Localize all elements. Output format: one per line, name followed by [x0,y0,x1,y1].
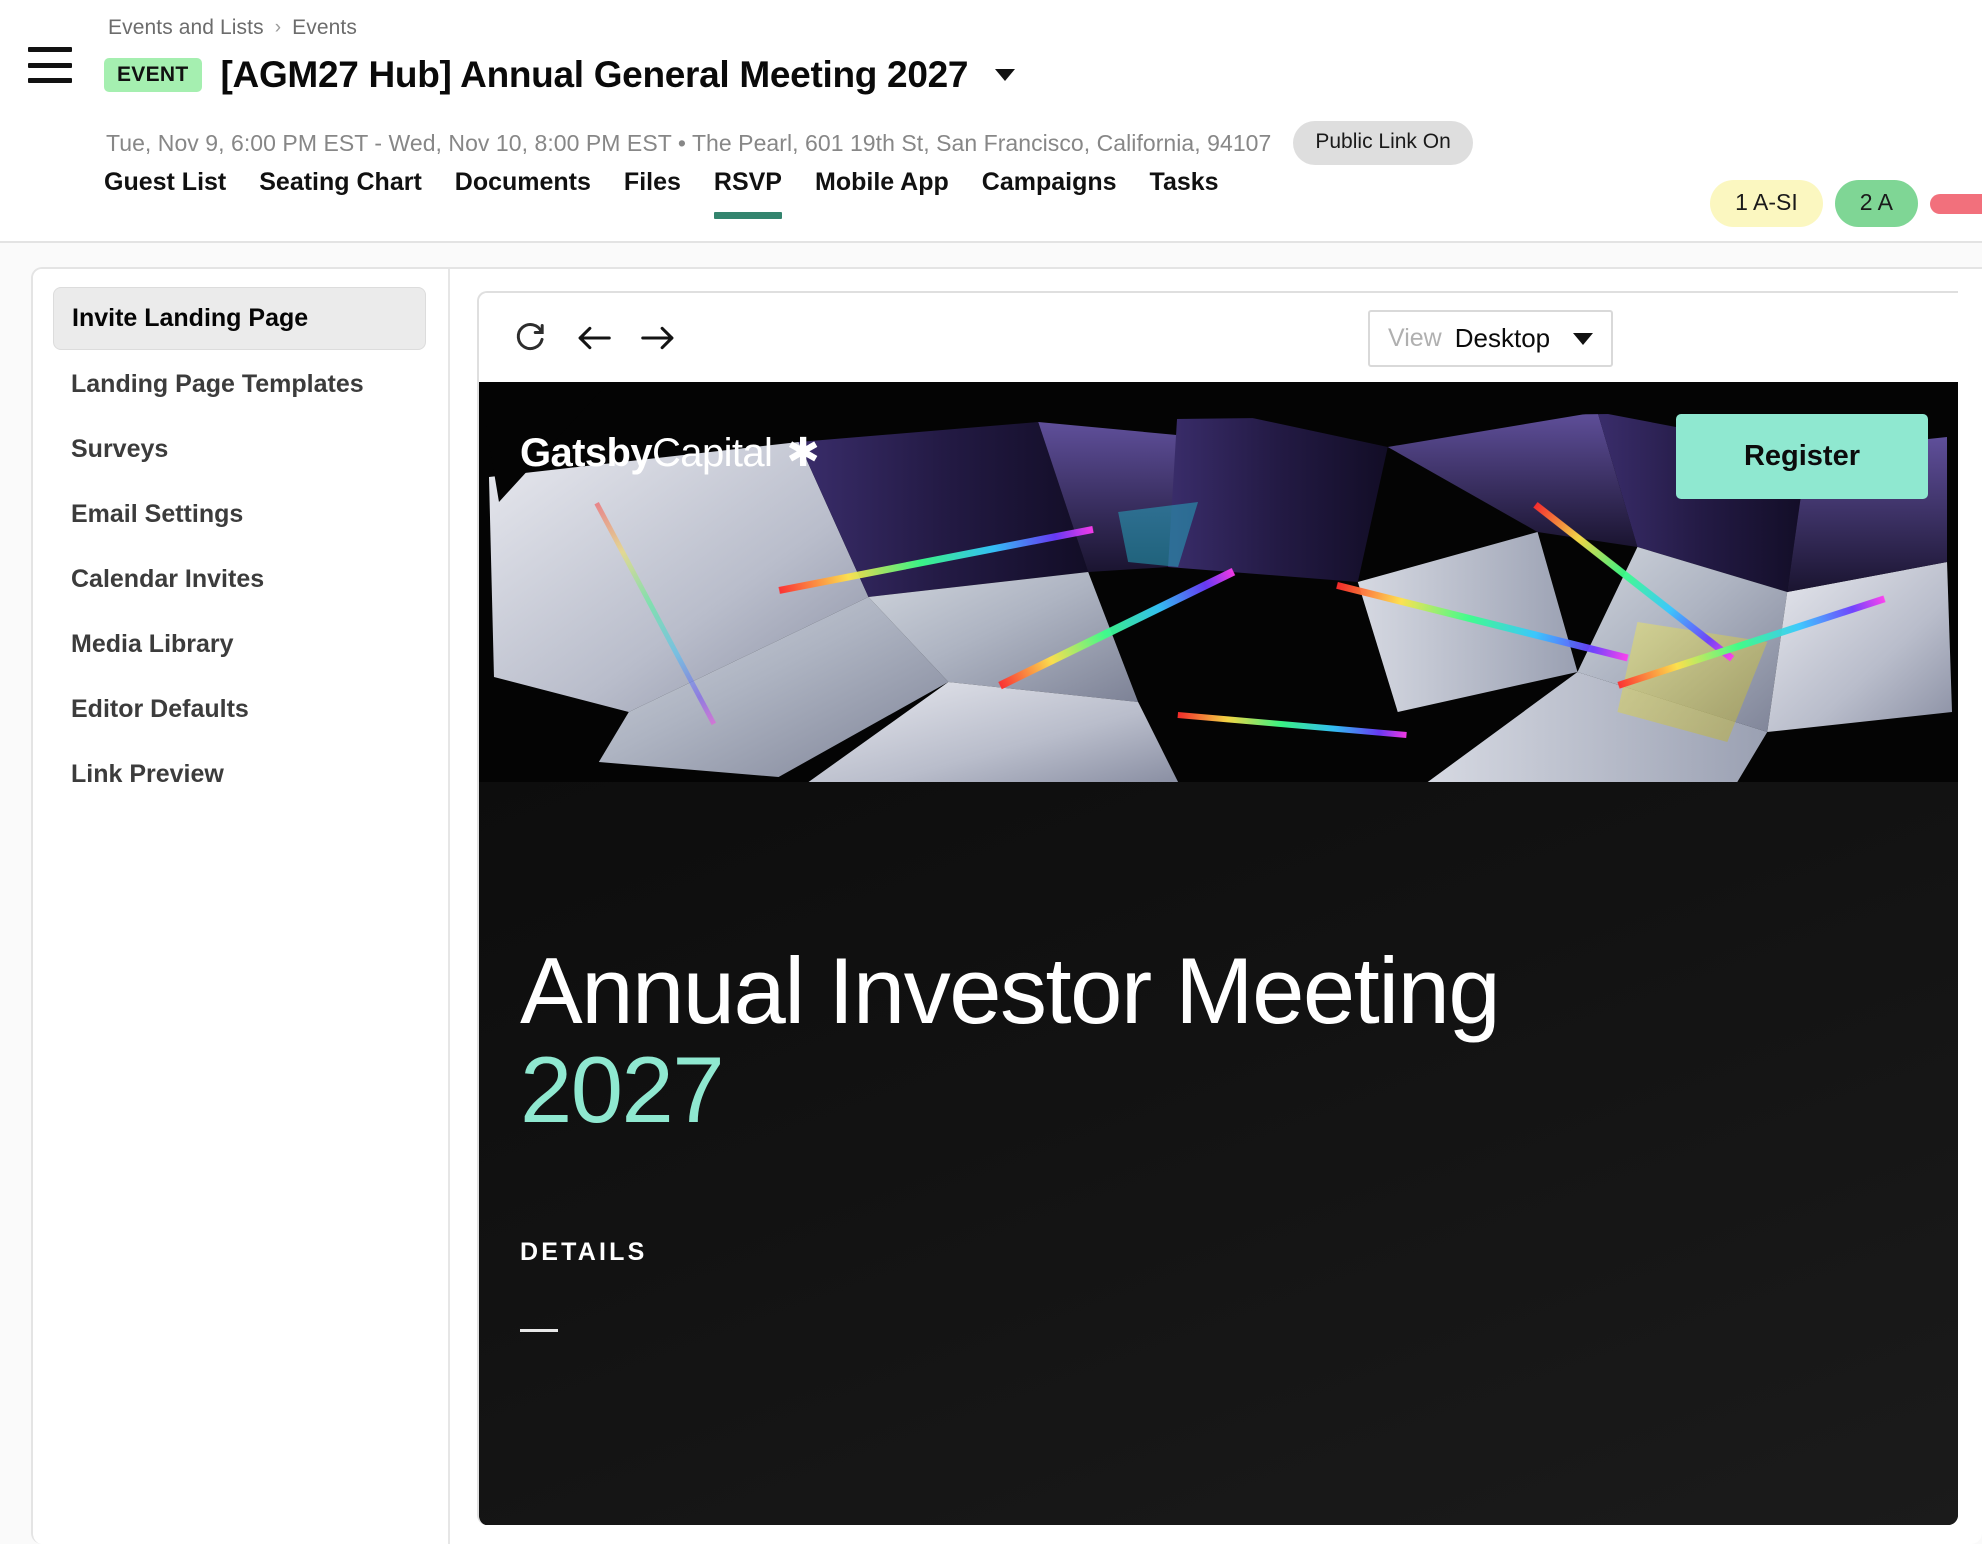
tab-campaigns[interactable]: Campaigns [982,168,1117,219]
preview-region: View Desktop [450,269,1982,1544]
sidebar-item-calendar-invites[interactable]: Calendar Invites [53,549,426,610]
sidebar-item-media-library[interactable]: Media Library [53,614,426,675]
details-divider [520,1329,558,1332]
app-header: Events and Lists › Events EVENT [AGM27 H… [0,0,1982,243]
brand-logo-light: Capital [652,431,772,475]
landing-page-body: Annual Investor Meeting 2027 DETAILS [479,782,1958,1525]
header-status-badges: 1 A-SI 2 A [1710,180,1982,227]
page-title: [AGM27 Hub] Annual General Meeting 2027 [221,54,969,96]
view-select-value: Desktop [1455,323,1550,354]
tab-bar: Guest List Seating Chart Documents Files… [104,168,1219,219]
sidebar-item-editor-defaults[interactable]: Editor Defaults [53,679,426,740]
breadcrumb-separator-icon: › [275,17,281,39]
hamburger-menu-icon[interactable] [28,47,72,83]
breadcrumb-root[interactable]: Events and Lists [108,16,264,40]
refresh-icon[interactable] [507,315,553,361]
tab-tasks[interactable]: Tasks [1150,168,1219,219]
sidebar-item-invite-landing-page[interactable]: Invite Landing Page [53,287,426,350]
landing-page-render: GatsbyCapital✱ Register Annual Investor … [479,382,1958,1525]
event-meta-row: Tue, Nov 9, 6:00 PM EST - Wed, Nov 10, 8… [106,121,1473,165]
brand-logo-bold: Gatsby [520,431,652,475]
view-mode-select[interactable]: View Desktop [1368,310,1613,367]
tab-files[interactable]: Files [624,168,681,219]
details-section-label: DETAILS [520,1238,1958,1267]
tab-rsvp[interactable]: RSVP [714,168,782,219]
content-area: Invite Landing Page Landing Page Templat… [0,243,1982,1544]
event-type-badge: EVENT [104,58,202,92]
register-button[interactable]: Register [1676,414,1928,499]
public-link-status-button[interactable]: Public Link On [1293,121,1472,165]
rsvp-sidebar: Invite Landing Page Landing Page Templat… [33,269,450,1544]
sidebar-item-link-preview[interactable]: Link Preview [53,744,426,805]
tab-mobile-app[interactable]: Mobile App [815,168,949,219]
hero-banner-image: GatsbyCapital✱ Register [479,382,1958,782]
title-chevron-down-icon[interactable] [995,69,1015,81]
status-badge[interactable] [1930,194,1982,214]
arrow-right-icon[interactable] [635,315,681,361]
asterisk-icon: ✱ [786,431,819,475]
arrow-left-icon[interactable] [571,315,617,361]
hero-year: 2027 [520,1041,1958,1140]
sidebar-item-surveys[interactable]: Surveys [53,419,426,480]
sidebar-item-landing-page-templates[interactable]: Landing Page Templates [53,354,426,415]
tab-guest-list[interactable]: Guest List [104,168,226,219]
view-select-label: View [1388,324,1442,353]
tab-seating-chart[interactable]: Seating Chart [259,168,422,219]
sidebar-item-email-settings[interactable]: Email Settings [53,484,426,545]
hamburger-bar [28,78,72,83]
rsvp-panel: Invite Landing Page Landing Page Templat… [31,267,1982,1544]
landing-page-preview-card: View Desktop [477,291,1958,1525]
breadcrumb-current[interactable]: Events [292,16,357,40]
chevron-down-icon [1573,333,1593,345]
hamburger-bar [28,47,72,52]
event-datetime-location: Tue, Nov 9, 6:00 PM EST - Wed, Nov 10, 8… [106,130,1271,157]
page-title-row: EVENT [AGM27 Hub] Annual General Meeting… [104,54,1015,96]
breadcrumb: Events and Lists › Events [108,16,357,40]
tab-documents[interactable]: Documents [455,168,591,219]
status-badge[interactable]: 2 A [1835,180,1918,227]
status-badge[interactable]: 1 A-SI [1710,180,1823,227]
preview-toolbar: View Desktop [479,293,1958,382]
hamburger-bar [28,63,72,68]
brand-logo: GatsbyCapital✱ [520,430,819,476]
hero-title: Annual Investor Meeting [520,945,1958,1037]
